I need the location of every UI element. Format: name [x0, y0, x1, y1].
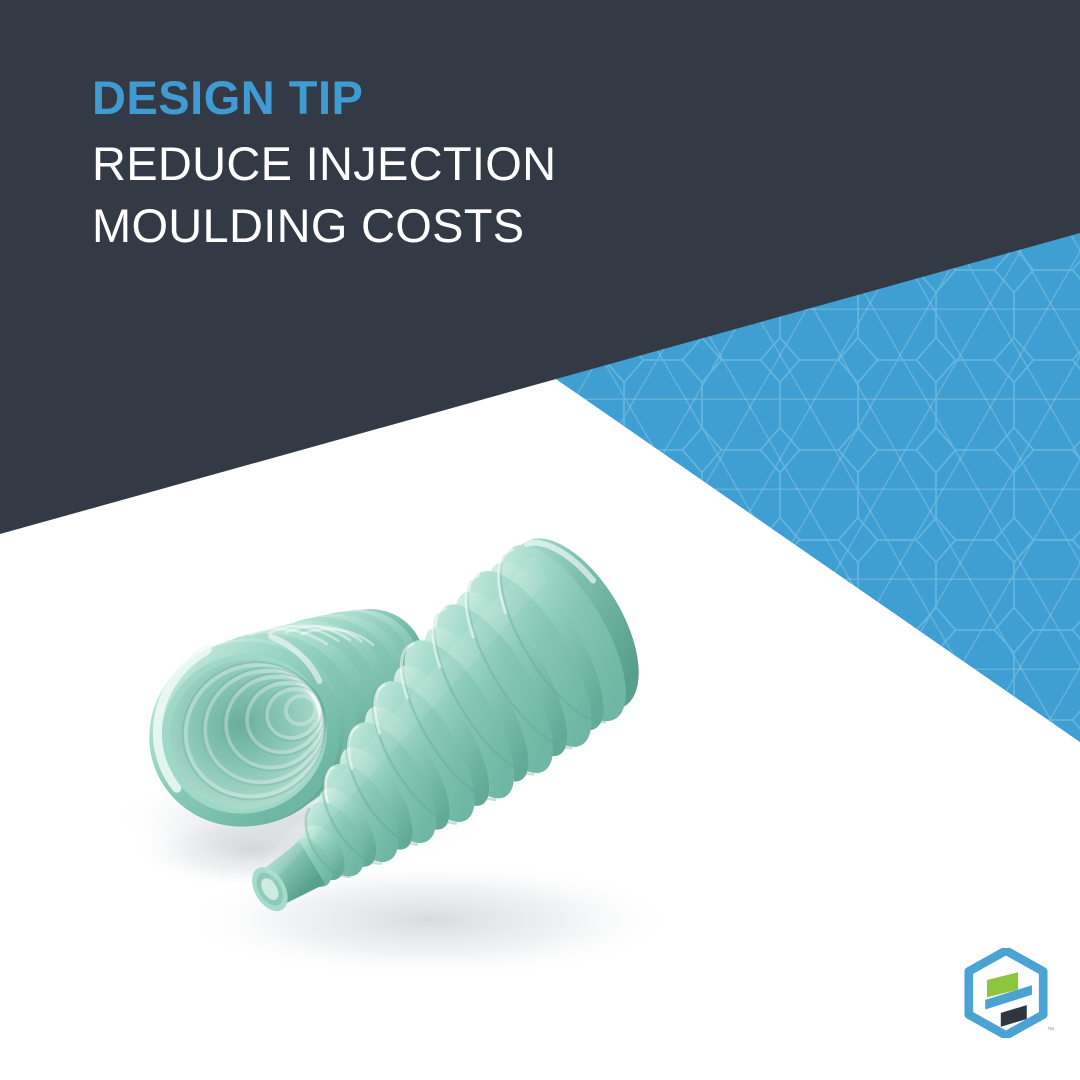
headline-block: DESIGN TIP REDUCE INJECTION MOULDING COS…: [92, 72, 852, 257]
poster-canvas: DESIGN TIP REDUCE INJECTION MOULDING COS…: [0, 0, 1080, 1080]
eyebrow-label: DESIGN TIP: [92, 72, 852, 125]
trademark-symbol: ™: [1047, 1027, 1054, 1034]
product-image: [0, 520, 760, 1020]
brand-logo[interactable]: ™: [962, 948, 1050, 1038]
page-title: REDUCE INJECTION MOULDING COSTS: [92, 133, 822, 257]
bellows-boot-illustration: [0, 520, 760, 1020]
hexagon-logo-icon: [962, 948, 1050, 1038]
